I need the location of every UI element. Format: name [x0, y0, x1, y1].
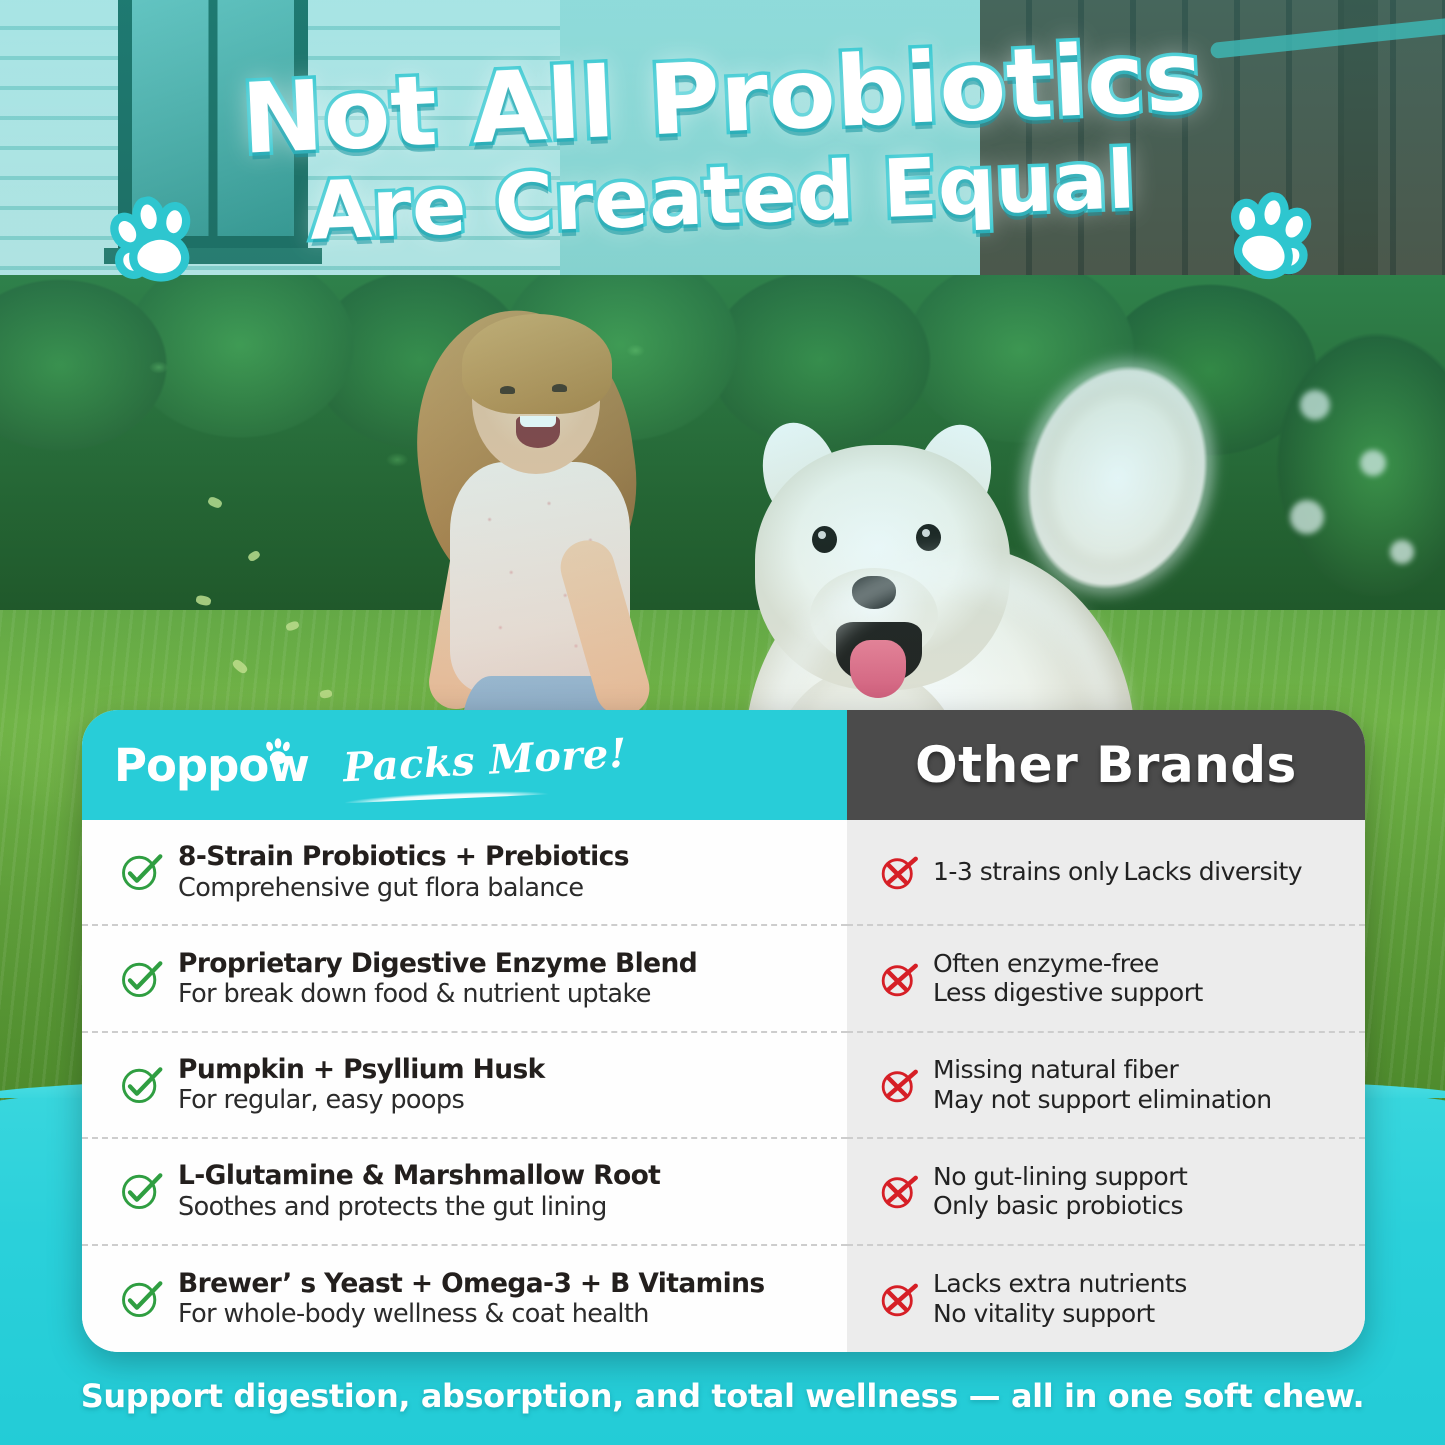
row-text: 8-Strain Probiotics + Prebiotics Compreh… [178, 841, 829, 903]
brand-tagline: Packs More! [342, 729, 628, 791]
competitor-column-header: Other Brands [847, 710, 1365, 820]
card-body: 8-Strain Probiotics + Prebiotics Compreh… [82, 820, 1365, 1352]
check-circle-icon [118, 1276, 164, 1322]
feature-subtitle: For regular, easy poops [178, 1085, 464, 1115]
drawback-line-1: Missing natural fiber [933, 1055, 1178, 1084]
brand-logo: Poppow [114, 739, 309, 792]
brand-column-header: Poppow Packs More! [82, 710, 847, 820]
infographic-canvas: Not All Probiotics Are Created Equal [0, 0, 1445, 1445]
table-row: Proprietary Digestive Enzyme Blend For b… [82, 926, 847, 1032]
drawback-line-1: No gut-lining support [933, 1162, 1187, 1191]
flower [1300, 390, 1330, 420]
check-circle-icon [118, 849, 164, 895]
feature-subtitle: For whole-body wellness & coat health [178, 1299, 649, 1329]
row-text: Missing natural fiber May not support el… [933, 1055, 1349, 1115]
table-row: L-Glutamine & Marshmallow Root Soothes a… [82, 1139, 847, 1245]
theirs-column: 1-3 strains only Lacks diversity Often e… [847, 820, 1365, 1352]
x-circle-icon [877, 850, 921, 894]
paw-print-icon [1215, 185, 1322, 292]
drawback-line-2: Lacks diversity [1123, 857, 1302, 886]
row-text: Often enzyme-free Less digestive support [933, 949, 1349, 1009]
paw-print-icon [99, 187, 208, 296]
check-circle-icon [118, 1062, 164, 1108]
dog-eye [812, 526, 837, 553]
comparison-card: Poppow Packs More! [82, 710, 1365, 1352]
girl-hair-front [462, 314, 612, 414]
drawback-line-2: No vitality support [933, 1299, 1155, 1328]
feature-title: Brewer’ s Yeast + Omega-3 + B Vitamins [178, 1268, 765, 1299]
x-circle-icon [877, 1277, 921, 1321]
table-row: 8-Strain Probiotics + Prebiotics Compreh… [82, 820, 847, 926]
table-row: Brewer’ s Yeast + Omega-3 + B Vitamins F… [82, 1246, 847, 1352]
flowering-bush [1245, 300, 1445, 630]
drawback-line-1: 1-3 strains only [933, 857, 1119, 886]
feature-subtitle: Comprehensive gut flora balance [178, 873, 583, 903]
girl-eye [500, 386, 515, 394]
row-text: 1-3 strains only Lacks diversity [933, 857, 1302, 887]
flower [1390, 540, 1414, 564]
girl-mouth [516, 416, 560, 448]
feature-subtitle: Soothes and protects the gut lining [178, 1192, 607, 1222]
x-circle-icon [877, 1169, 921, 1213]
feature-title: Pumpkin + Psyllium Husk [178, 1054, 545, 1085]
check-circle-icon [118, 956, 164, 1002]
row-text: Brewer’ s Yeast + Omega-3 + B Vitamins F… [178, 1268, 829, 1330]
flower [1290, 500, 1324, 534]
tagline-wrap: Packs More! [343, 737, 627, 794]
row-text: No gut-lining support Only basic probiot… [933, 1162, 1349, 1222]
check-circle-icon [118, 1168, 164, 1214]
competitor-title: Other Brands [915, 736, 1297, 794]
x-circle-icon [877, 1063, 921, 1107]
drawback-line-1: Often enzyme-free [933, 949, 1159, 978]
paw-print-icon [263, 726, 293, 756]
feature-title: 8-Strain Probiotics + Prebiotics [178, 841, 629, 872]
row-text: Lacks extra nutrients No vitality suppor… [933, 1269, 1349, 1329]
drawback-line-2: Only basic probiotics [933, 1191, 1183, 1220]
table-row: Missing natural fiber May not support el… [847, 1033, 1365, 1139]
flower [1360, 450, 1386, 476]
drawback-line-2: Less digestive support [933, 978, 1203, 1007]
x-circle-icon [877, 957, 921, 1001]
drawback-line-1: Lacks extra nutrients [933, 1269, 1187, 1298]
table-row: No gut-lining support Only basic probiot… [847, 1139, 1365, 1245]
feature-subtitle: For break down food & nutrient uptake [178, 979, 651, 1009]
row-text: Proprietary Digestive Enzyme Blend For b… [178, 948, 829, 1010]
feature-title: L-Glutamine & Marshmallow Root [178, 1160, 660, 1191]
girl-eye [552, 384, 567, 392]
table-row: Pumpkin + Psyllium Husk For regular, eas… [82, 1033, 847, 1139]
row-text: Pumpkin + Psyllium Husk For regular, eas… [178, 1054, 829, 1116]
footer-tagline: Support digestion, absorption, and total… [0, 1377, 1445, 1415]
ours-column: 8-Strain Probiotics + Prebiotics Compreh… [82, 820, 847, 1352]
table-row: Lacks extra nutrients No vitality suppor… [847, 1246, 1365, 1352]
table-row: Often enzyme-free Less digestive support [847, 926, 1365, 1032]
card-header: Poppow Packs More! [82, 710, 1365, 820]
feature-title: Proprietary Digestive Enzyme Blend [178, 948, 697, 979]
drawback-line-2: May not support elimination [933, 1085, 1272, 1114]
row-text: L-Glutamine & Marshmallow Root Soothes a… [178, 1160, 829, 1222]
table-row: 1-3 strains only Lacks diversity [847, 820, 1365, 926]
